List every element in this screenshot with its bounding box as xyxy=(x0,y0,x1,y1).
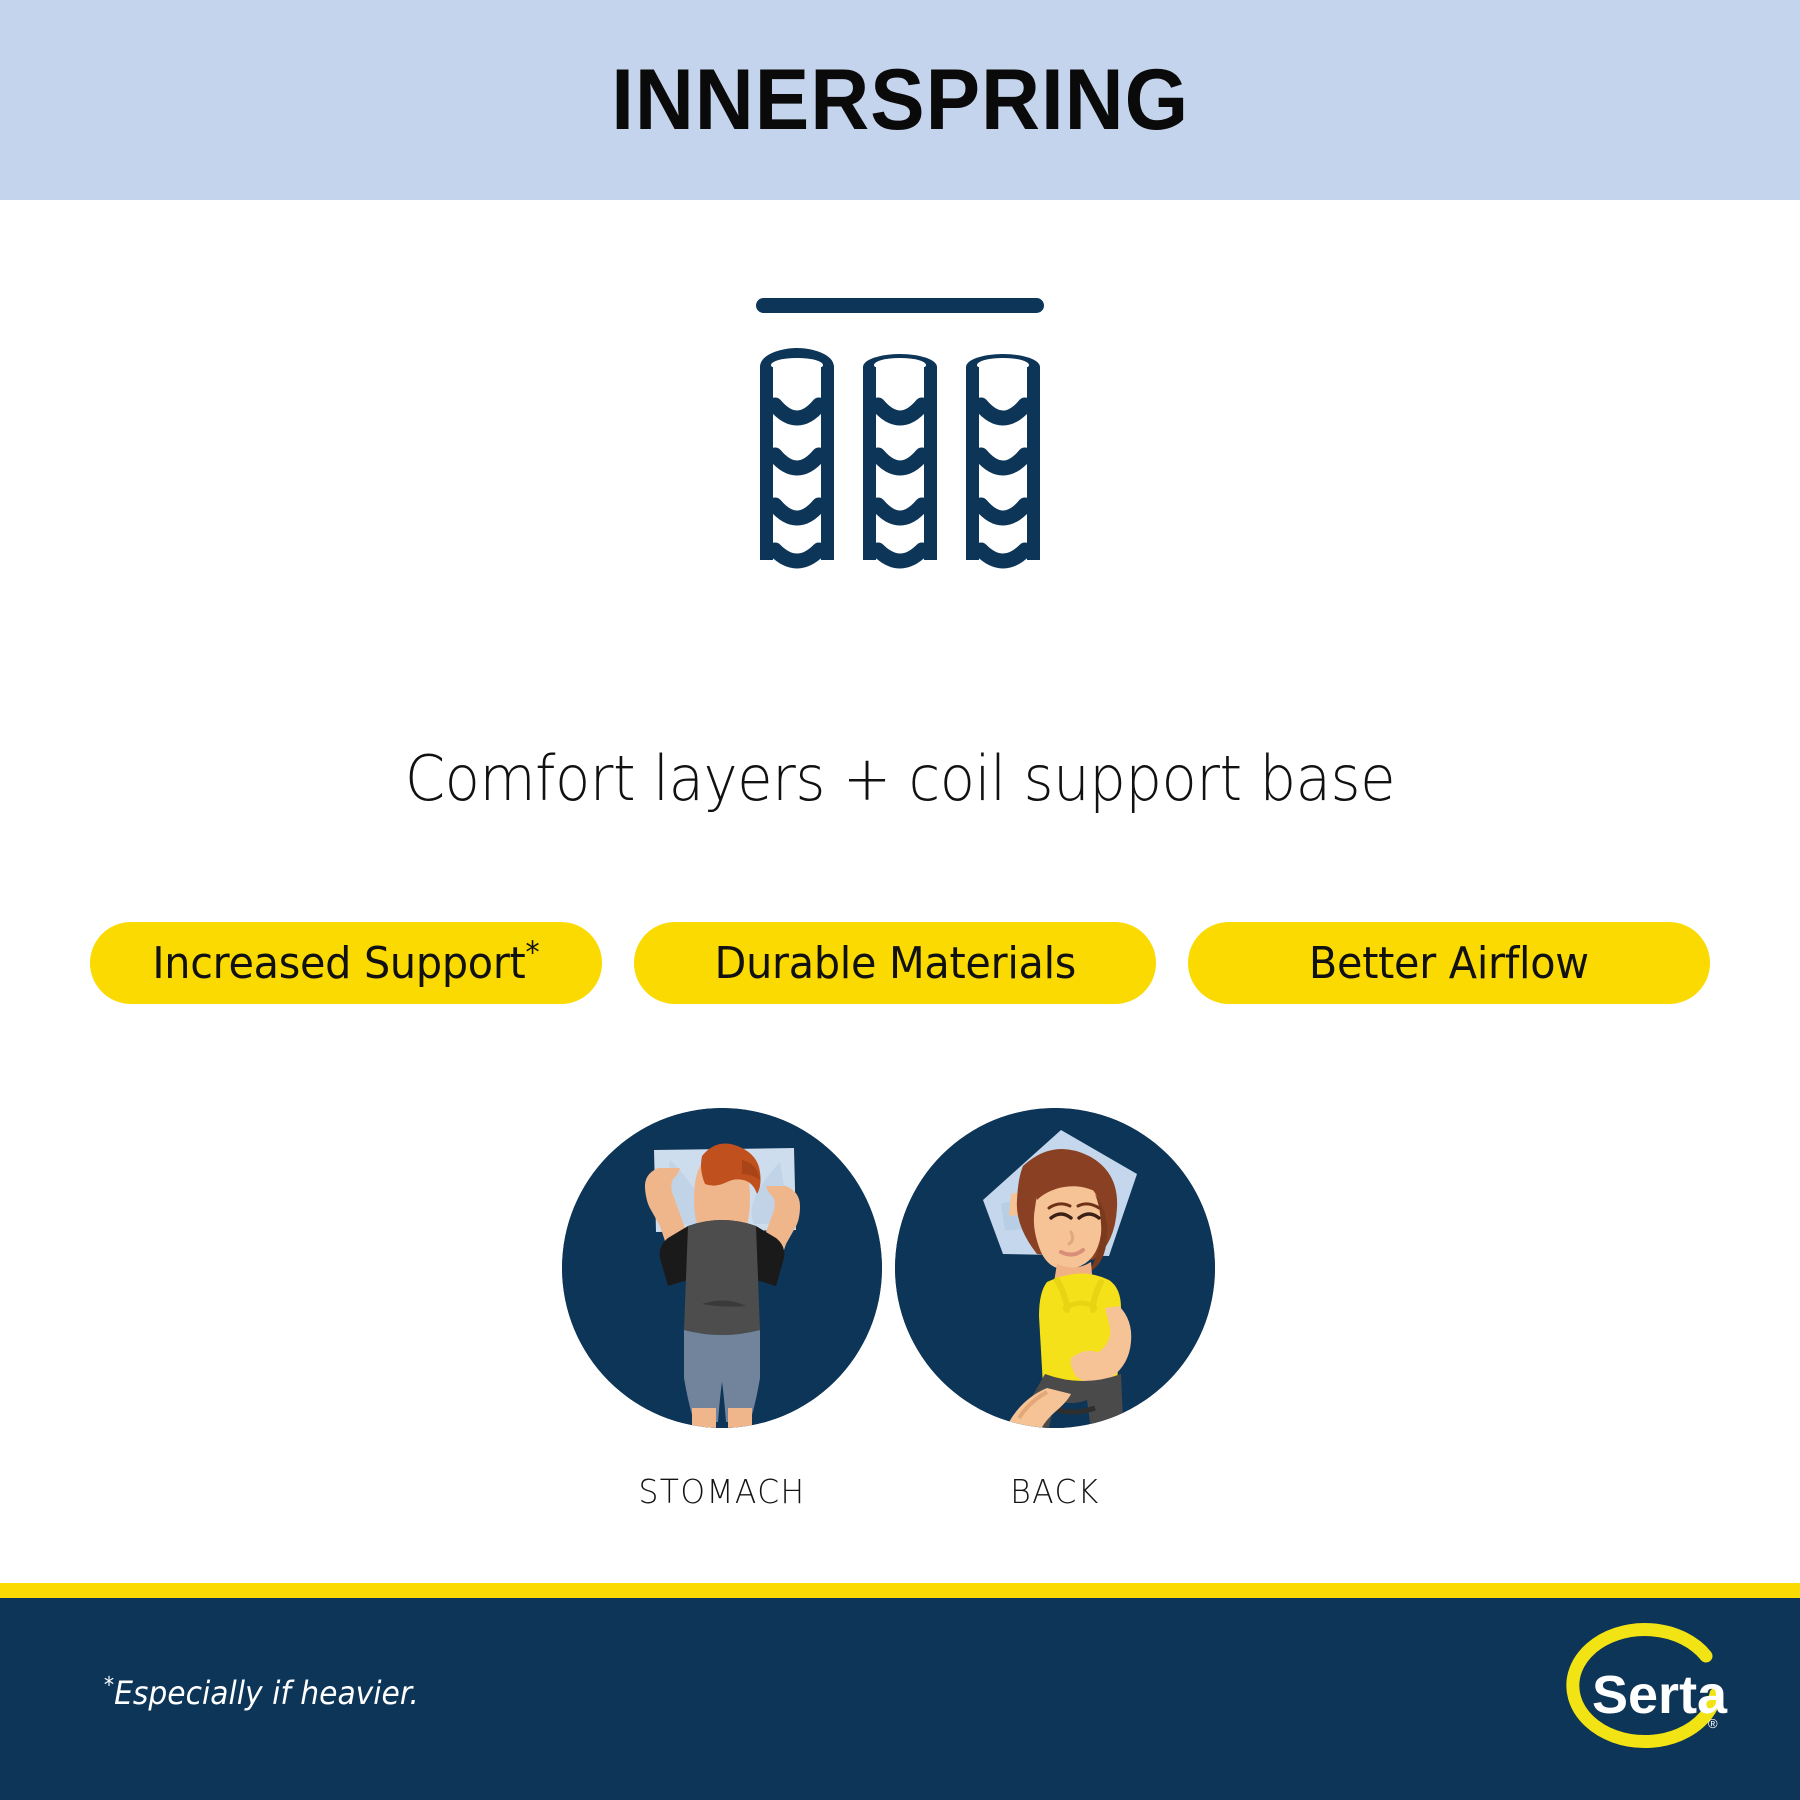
footnote-marker: * xyxy=(104,1673,114,1698)
feature-pill-better-airflow[interactable]: Better Airflow xyxy=(1188,922,1710,1004)
registered-trademark-icon: ® xyxy=(1708,1716,1718,1731)
feature-pill-text: Durable Materials xyxy=(714,938,1076,989)
footer: *Especially if heavier. Serta ® xyxy=(0,1598,1800,1800)
innerspring-icon-container xyxy=(0,290,1800,590)
tagline: Comfort layers + coil support base xyxy=(63,742,1737,815)
sleep-positions-section: STOMACH xyxy=(0,1108,1800,1558)
feature-pill-text: Better Airflow xyxy=(1309,938,1589,989)
serta-logo: Serta ® xyxy=(1556,1620,1746,1780)
sleep-position-stomach[interactable]: STOMACH xyxy=(557,1108,887,1511)
footnote-text: *Especially if heavier. xyxy=(104,1674,419,1712)
footnote-body: Especially if heavier. xyxy=(114,1674,419,1712)
feature-pill-label: Durable Materials xyxy=(714,938,1076,989)
stomach-sleeper-illustration xyxy=(562,1108,882,1428)
back-sleeper-illustration xyxy=(895,1108,1215,1428)
feature-pill-increased-support[interactable]: Increased Support* xyxy=(90,922,602,1004)
sleep-position-caption: STOMACH xyxy=(565,1472,879,1511)
innerspring-coils-icon xyxy=(750,295,1050,585)
feature-pill-text: Increased Support xyxy=(153,938,526,989)
sleep-position-caption: BACK xyxy=(898,1472,1212,1511)
sleep-position-back[interactable]: BACK xyxy=(890,1108,1220,1511)
footer-accent-stripe xyxy=(0,1583,1800,1598)
footnote-marker: * xyxy=(526,935,540,970)
feature-pill-label: Better Airflow xyxy=(1309,938,1589,989)
page-title: INNERSPRING xyxy=(611,51,1189,150)
header-band: INNERSPRING xyxy=(0,0,1800,200)
feature-pill-durable-materials[interactable]: Durable Materials xyxy=(634,922,1156,1004)
feature-pill-row: Increased Support* Durable Materials Bet… xyxy=(90,922,1710,1004)
feature-pill-label: Increased Support* xyxy=(153,938,540,989)
